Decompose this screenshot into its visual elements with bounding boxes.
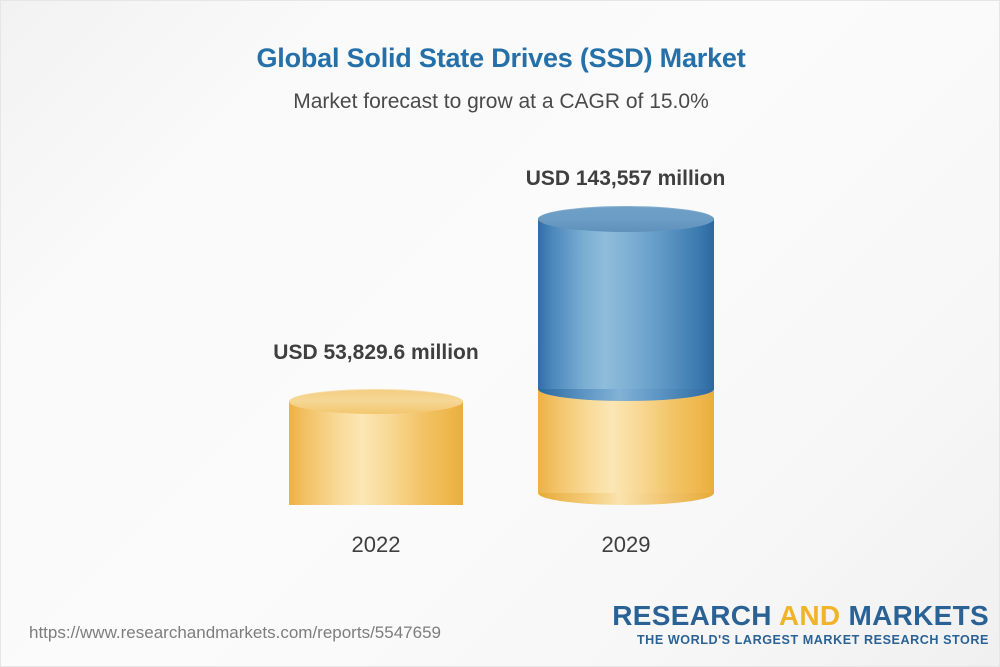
bar-2022[interactable]: [289, 389, 463, 513]
bar-2022-body: [289, 401, 463, 505]
source-url[interactable]: https://www.researchandmarkets.com/repor…: [29, 623, 441, 643]
logo-text-research: RESEARCH: [612, 600, 779, 631]
bar-2022-top-cap: [289, 389, 463, 414]
bar-2029[interactable]: [538, 206, 714, 513]
bar-2029-base-body: [538, 389, 714, 493]
logo-text-and: AND: [779, 600, 841, 631]
logo-text-markets: MARKETS: [840, 600, 989, 631]
researchandmarkets-logo[interactable]: RESEARCH AND MARKETS THE WORLD'S LARGEST…: [612, 602, 989, 647]
logo-wordmark: RESEARCH AND MARKETS: [612, 602, 989, 631]
category-label-2029: 2029: [538, 532, 714, 558]
data-label-2029: USD 143,557 million: [1, 167, 1000, 191]
logo-tagline: THE WORLD'S LARGEST MARKET RESEARCH STOR…: [612, 633, 989, 647]
chart-canvas: Global Solid State Drives (SSD) Market M…: [0, 0, 1000, 667]
bar-2029-blue-body: [538, 218, 714, 389]
plot-area: USD 143,557 million USD 53,829.6 million…: [1, 1, 1000, 667]
bar-2029-top-cap: [538, 206, 714, 232]
category-label-2022: 2022: [289, 532, 463, 558]
